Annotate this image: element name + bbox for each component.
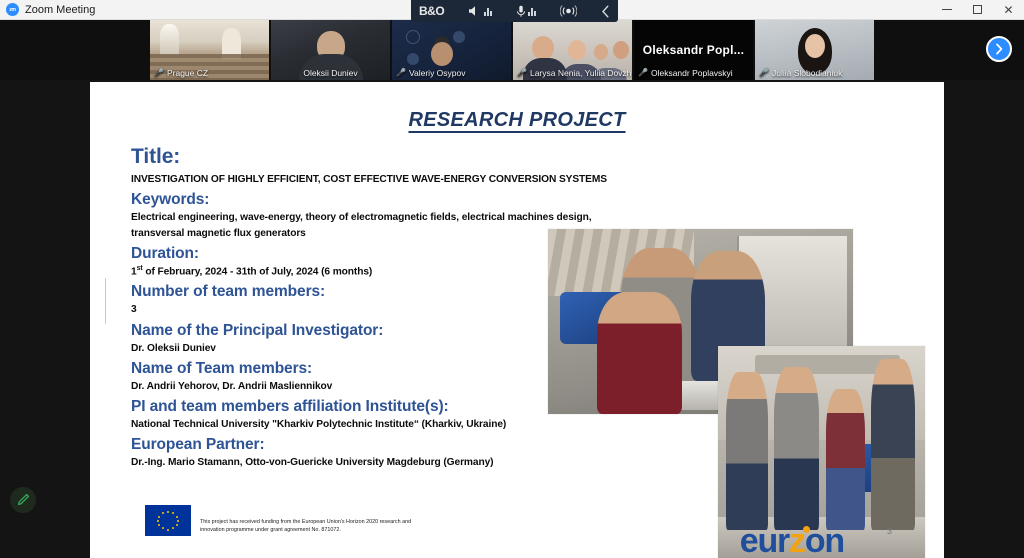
annotate-button[interactable] [10,487,36,513]
field-value-affiliation: National Technical University "Kharkiv P… [131,417,631,432]
participant-name-label: 🎤 Prague CZ [150,67,269,80]
close-icon: ✕ [1003,4,1013,16]
eu-stars [158,511,178,531]
participant-tile-juliia-slobodianiuk[interactable]: 🎤 Juliia Slobodianiuk [755,20,874,80]
minimize-icon [942,9,952,10]
maximize-button[interactable] [962,0,993,20]
window-title: Zoom Meeting [25,4,95,16]
field-heading-european-partner: European Partner: [131,435,631,455]
field-heading-title: Title: [131,144,631,170]
speaker-icon [468,5,482,17]
photo-person [774,367,820,530]
eu-funding-disclaimer: This project has received funding from t… [200,518,430,536]
microphone-muted-icon: 🎤 [517,69,527,77]
participant-tile-prague-cz[interactable]: 🎤 Prague CZ [150,20,269,80]
filmstrip-next-button[interactable] [986,36,1012,62]
participant-name-label: 🎤 Larysa Nenia, Yuliia Dovzh... [513,67,632,80]
microphone-icon [516,5,526,18]
slide-title: RESEARCH PROJECT [90,109,944,132]
participant-name-label: 🎤 Juliia Slobodianiuk [755,67,874,80]
speaker-level-bars [484,7,492,16]
participant-tile-oleksii-duniev[interactable]: Oleksii Duniev [271,20,390,80]
microphone-muted-icon: 🎤 [759,69,769,77]
bang-olufsen-logo: B&O [419,5,444,17]
speaker-volume-control[interactable] [468,5,492,17]
collapse-overlay-button[interactable] [601,5,610,18]
zoom-icon: zm [6,3,19,16]
participant-name-text: Oleksii Duniev [303,68,357,78]
participant-name-text: Larysa Nenia, Yuliia Dovzh... [530,68,632,78]
eurizon-logo: eurzon [740,524,844,558]
eurizon-logo-part2: on [805,522,844,558]
duration-rest: of February, 2024 - 31th of July, 2024 (… [143,266,373,277]
noise-cancellation-button[interactable] [560,4,577,18]
presentation-slide: RESEARCH PROJECT Title: INVESTIGATION OF… [90,82,944,558]
text-caret [105,278,106,324]
chevron-left-icon [601,5,610,18]
photo-person [726,372,767,530]
microphone-control[interactable] [516,5,536,18]
participant-tile-valeriy-osypov[interactable]: 🎤 Valeriy Osypov [392,20,511,80]
photo-person [826,389,865,530]
participant-name-label: 🎤 Valeriy Osypov [392,67,511,80]
maximize-icon [973,5,982,14]
noise-cancellation-icon [560,4,577,18]
photo-person [597,292,682,414]
field-value-european-partner: Dr.-Ing. Mario Stamann, Otto-von-Guerick… [131,455,631,470]
participant-name-text: Prague CZ [167,68,208,78]
participant-name-text: Oleksandr Poplavskyi [651,68,733,78]
zoom-meeting-window: zm Zoom Meeting ✕ B&O [0,0,1024,558]
bang-olufsen-audio-overlay[interactable]: B&O [411,0,618,22]
slide-page-number: 3 [887,526,892,536]
european-union-flag [145,505,191,536]
field-value-title: INVESTIGATION OF HIGHLY EFFICIENT, COST … [131,172,631,187]
participant-name-label: 🎤 Oleksandr Poplavskyi [634,67,753,80]
eurizon-logo-part1: eur [740,522,789,558]
shared-screen-stage: RESEARCH PROJECT Title: INVESTIGATION OF… [0,80,1024,558]
participant-filmstrip[interactable]: 🎤 Prague CZ Oleksii Duniev 🎤 Valeriy Osy… [0,20,1024,80]
participant-name-text: Juliia Slobodianiuk [772,68,842,78]
microphone-muted-icon: 🎤 [396,69,406,77]
microphone-muted-icon: 🎤 [638,69,648,77]
chevron-right-icon [994,43,1004,55]
field-heading-keywords: Keywords: [131,190,631,210]
participant-tile-oleksandr-poplavskyi[interactable]: Oleksandr Popl... 🎤 Oleksandr Poplavskyi [634,20,753,80]
microphone-muted-icon: 🎤 [154,69,164,77]
mic-level-bars [528,7,536,16]
eurizon-logo-dot-icon [803,526,810,533]
participant-tile-larysa-nenia[interactable]: 🎤 Larysa Nenia, Yuliia Dovzh... [513,20,632,80]
pen-icon [16,493,30,507]
participant-name-label: Oleksii Duniev [271,67,390,80]
photo-person [871,359,914,530]
participant-name-text: Valeriy Osypov [409,68,466,78]
minimize-button[interactable] [931,0,962,20]
close-button[interactable]: ✕ [993,0,1024,20]
